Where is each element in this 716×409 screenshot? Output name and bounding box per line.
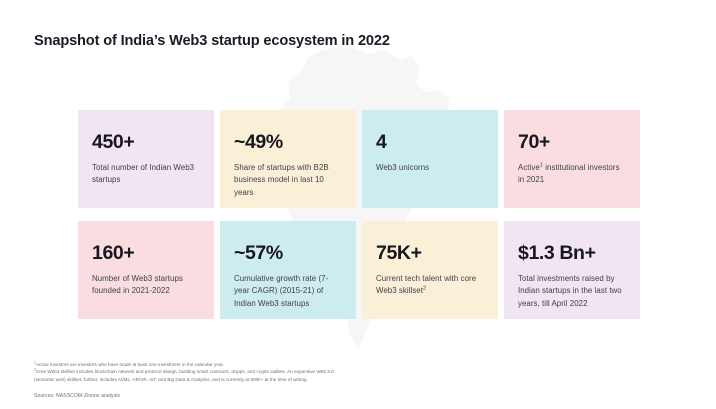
stat-card-cagr: ~57% Cumulative growth rate (7-year CAGR… — [220, 221, 356, 319]
stat-value: 160+ — [92, 244, 200, 264]
footnote-text: Core Web3 skillset includes blockchain n… — [36, 369, 334, 374]
footnote-text: Active investors are investors who have … — [36, 362, 224, 367]
stat-card-startups-founded: 160+ Number of Web3 startups founded in … — [78, 221, 214, 319]
stat-card-institutional-investors: 70+ Active1 institutional investors in 2… — [504, 110, 640, 208]
stat-value: 75K+ — [376, 244, 484, 264]
footnote-line-1: 1Active investors are investors who have… — [34, 361, 594, 368]
stat-description: Web3 unicorns — [376, 162, 484, 175]
stat-card-b2b-share: ~49% Share of startups with B2B business… — [220, 110, 356, 208]
stat-description: Active1 institutional investors in 2021 — [518, 162, 626, 188]
stat-description-text: Current tech talent with core Web3 skill… — [376, 274, 476, 296]
stat-card-total-startups: 450+ Total number of Indian Web3 startup… — [78, 110, 214, 208]
stat-value: 450+ — [92, 133, 200, 153]
stat-description: Cumulative growth rate (7-year CAGR) (20… — [234, 273, 342, 311]
stat-card-grid: 450+ Total number of Indian Web3 startup… — [78, 110, 640, 319]
infographic-container: Snapshot of India’s Web3 startup ecosyst… — [0, 0, 716, 409]
page-title: Snapshot of India’s Web3 startup ecosyst… — [34, 33, 390, 49]
stat-description: Total number of Indian Web3 startups — [92, 162, 200, 188]
stat-card-tech-talent: 75K+ Current tech talent with core Web3 … — [362, 221, 498, 319]
footnote-marker: 2 — [423, 286, 426, 292]
footnote-line-3: (semantic web) skillset, further, includ… — [34, 376, 594, 383]
stat-description: Current tech talent with core Web3 skill… — [376, 273, 484, 299]
footnote-line-2: 2Core Web3 skillset includes blockchain … — [34, 368, 594, 375]
stat-value: ~49% — [234, 133, 342, 153]
footnotes-block: 1Active investors are investors who have… — [34, 361, 594, 383]
stat-value: $1.3 Bn+ — [518, 244, 626, 264]
stat-description: Total investments raised by Indian start… — [518, 273, 626, 311]
stat-card-unicorns: 4 Web3 unicorns — [362, 110, 498, 208]
stat-description-text: Active — [518, 163, 540, 172]
stat-description: Share of startups with B2B business mode… — [234, 162, 342, 200]
footnote-text: (semantic web) skillset, further, includ… — [34, 377, 307, 382]
stat-card-total-investments: $1.3 Bn+ Total investments raised by Ind… — [504, 221, 640, 319]
source-line: Sources: NASSCOM-Zinnov analysis — [34, 393, 120, 399]
stat-value: 4 — [376, 133, 484, 153]
stat-description: Number of Web3 startups founded in 2021-… — [92, 273, 200, 299]
stat-value: ~57% — [234, 244, 342, 264]
stat-value: 70+ — [518, 133, 626, 153]
